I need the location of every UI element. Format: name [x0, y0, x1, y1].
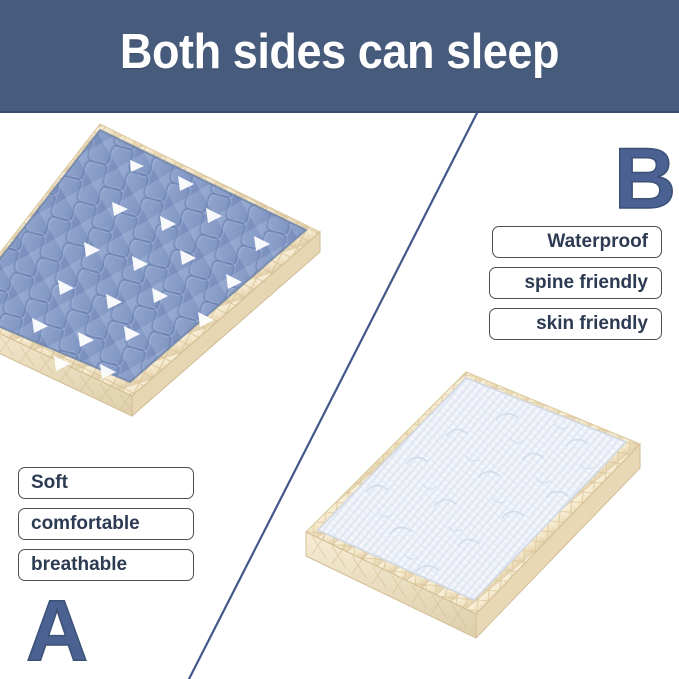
side-letter-a: A [26, 588, 88, 674]
product-image-canvas: Both sides can sleep [0, 0, 679, 679]
feature-label-comfortable[interactable]: comfortable [18, 508, 194, 540]
page-title: Both sides can sleep [27, 22, 652, 82]
side-letter-b: B [614, 136, 676, 222]
feature-label-breathable[interactable]: breathable [18, 549, 194, 581]
blue-mattress-illustration [0, 124, 334, 424]
white-mattress-illustration [306, 372, 679, 664]
feature-label-spine-friendly[interactable]: spine friendly [489, 267, 662, 299]
feature-label-waterproof[interactable]: Waterproof [492, 226, 662, 258]
feature-label-soft[interactable]: Soft [18, 467, 194, 499]
feature-label-skin-friendly[interactable]: skin friendly [489, 308, 662, 340]
